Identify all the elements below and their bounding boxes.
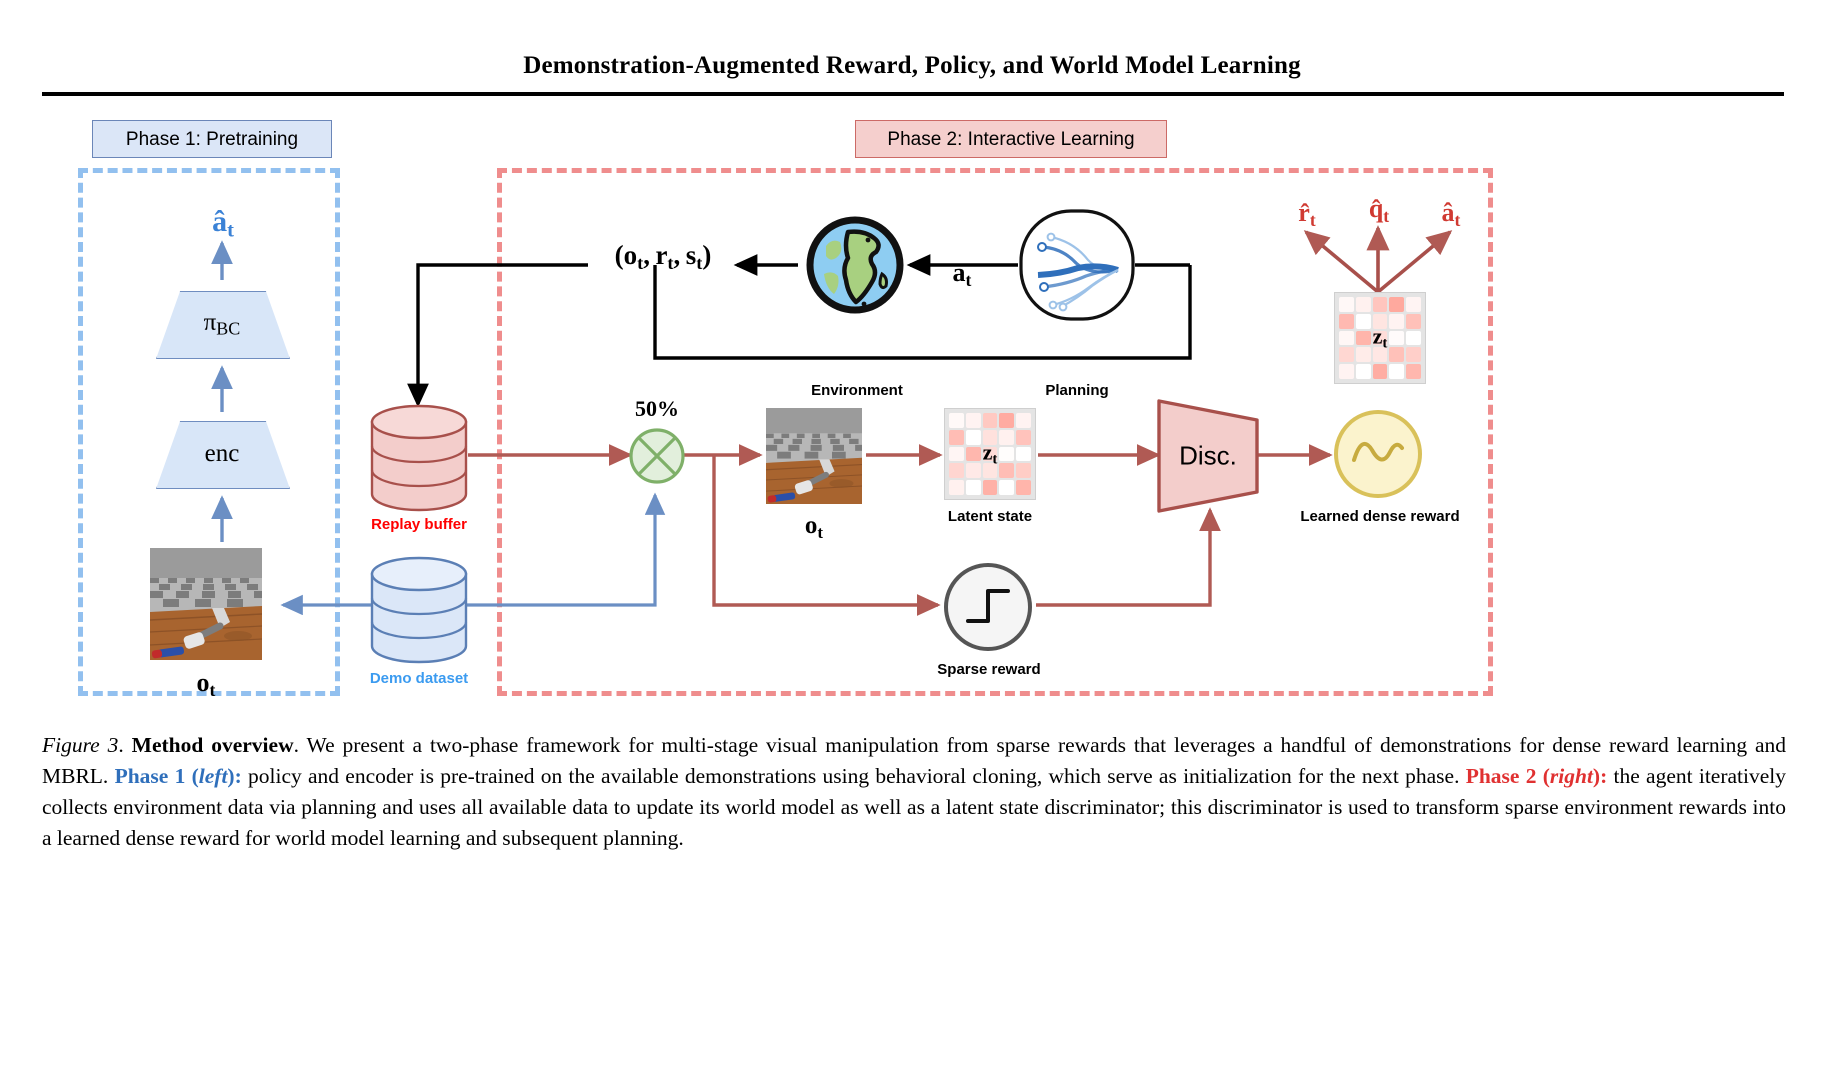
learned-dense-reward-label: Learned dense reward [1280,508,1480,525]
environment-label: Environment [790,382,924,399]
head-action-label: ât [1418,198,1484,231]
grid-cell [983,480,998,495]
mix-ratio-label: 50% [622,396,692,422]
grid-cell [1356,297,1371,312]
phase1-observation-image [150,548,262,660]
caption-figure-number: Figure 3 [42,733,118,757]
wm-latent-symbol: zt [1335,323,1425,352]
phase2-observation-label: ot [766,512,862,543]
mixer-circle-icon [628,427,686,485]
grid-cell [999,480,1014,495]
grid-cell [1406,364,1421,379]
latent-state-grid: zt [944,408,1036,500]
caption-phase1-em: left [199,764,228,788]
phase2-banner: Phase 2: Interactive Learning [855,120,1167,158]
policy-bc-label: πBC [156,309,288,340]
grid-cell [1389,297,1404,312]
phase1-observation-label: ot [150,668,262,701]
step-function-icon [942,561,1034,653]
grid-cell [966,480,981,495]
caption-phase2-tag-end: ): [1593,764,1607,788]
action-hat-symbol: â [212,205,227,238]
caption-part2: policy and encoder is pre-trained on the… [242,764,1466,788]
grid-cell [1016,480,1031,495]
encoder-label: enc [156,440,288,468]
grid-cell [999,413,1014,428]
encoder-label-wrap: enc [156,421,288,487]
page-title: Demonstration-Augmented Reward, Policy, … [0,52,1824,80]
replay-buffer-cylinder [368,404,470,512]
grid-cell [1373,364,1388,379]
disc-label-wrap: Disc. [1156,398,1260,514]
discriminator-label: Disc. [1156,441,1260,472]
planning-trajectories-icon [1018,208,1136,322]
grid-cell [966,413,981,428]
caption-phase1-tag-end: ): [227,764,241,788]
phase1-output-action: ât [178,205,268,243]
title-divider [42,92,1784,96]
phase2-observation-image [766,408,862,504]
grid-cell [949,480,964,495]
latent-symbol: zt [945,439,1035,468]
grid-cell [1356,364,1371,379]
policy-bc-label-wrap: πBC [156,291,288,357]
action-label: at [930,258,994,291]
caption-phase2-em: right [1550,764,1593,788]
action-subscript: t [227,220,234,242]
grid-cell [1339,364,1354,379]
demo-dataset-label: Demo dataset [340,670,498,687]
head-reward-label: r̂t [1274,198,1340,231]
caption-phase1-tag: Phase 1 ( [115,764,199,788]
sparse-reward-label: Sparse reward [918,661,1060,678]
env-output-tuple: (ot, rt, st) [588,240,738,274]
grid-cell [1339,297,1354,312]
grid-cell [1406,297,1421,312]
sine-wave-icon [1332,408,1424,500]
grid-cell [983,413,998,428]
planning-label: Planning [1012,382,1142,399]
latent-state-label: Latent state [930,508,1050,525]
grid-cell [1373,297,1388,312]
phase1-banner: Phase 1: Pretraining [92,120,332,158]
caption-phase2-tag: Phase 2 ( [1466,764,1550,788]
grid-cell [1389,364,1404,379]
figure-caption: Figure 3. Method overview. We present a … [42,730,1786,854]
grid-cell [949,413,964,428]
world-model-latent-grid: zt [1334,292,1426,384]
grid-cell [1016,413,1031,428]
demo-dataset-cylinder [368,556,470,664]
head-value-label: q̂t [1346,194,1412,227]
replay-buffer-label: Replay buffer [340,516,498,533]
globe-icon [802,212,908,318]
caption-heading: Method overview [132,733,294,757]
